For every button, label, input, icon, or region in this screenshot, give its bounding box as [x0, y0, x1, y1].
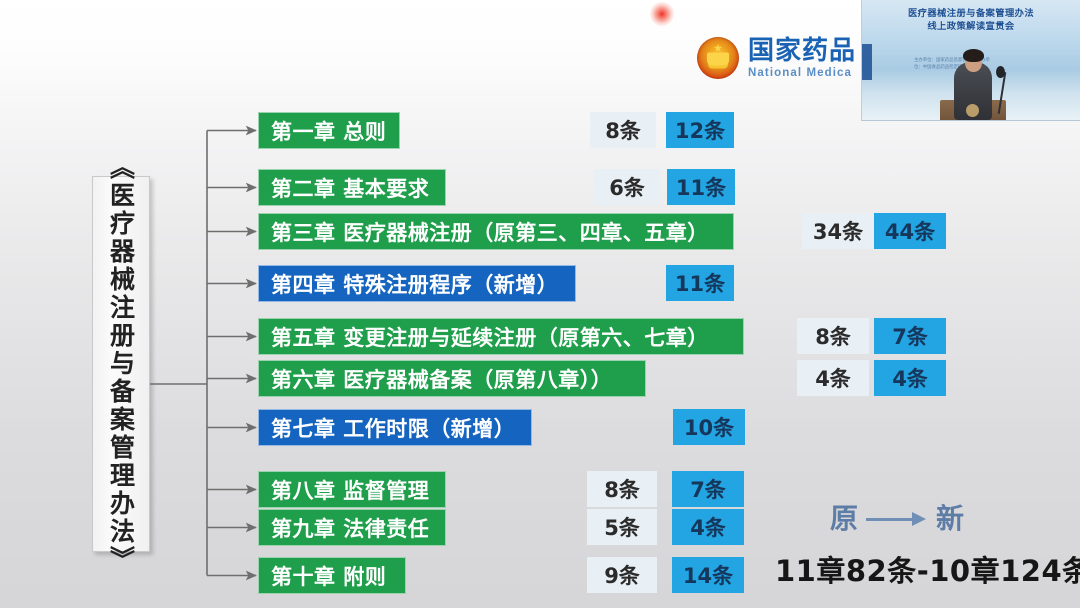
- chapter-label: 第四章 特殊注册程序（新增）: [271, 269, 558, 299]
- chapter-box-7[interactable]: 第七章 工作时限（新增）: [258, 409, 532, 446]
- badge-new-count-2: 11条: [667, 169, 735, 205]
- chapter-box-9[interactable]: 第九章 法律责任: [258, 509, 446, 546]
- chapter-label: 第八章 监督管理: [271, 475, 429, 505]
- chapter-box-10[interactable]: 第十章 附则: [258, 557, 406, 594]
- chapter-row: 第四章 特殊注册程序（新增）11条: [0, 265, 1080, 302]
- microphone-head-shape: [996, 66, 1005, 78]
- chapter-box-1[interactable]: 第一章 总则: [258, 112, 400, 149]
- nmpa-logo: 国家药品 National Medica: [697, 37, 856, 80]
- badge-old-count-6: 4条: [797, 360, 869, 396]
- chapter-row: 第五章 变更注册与延续注册（原第六、七章）8条7条: [0, 318, 1080, 355]
- chapter-label: 第十章 附则: [271, 561, 386, 591]
- badge-old-count-8: 8条: [587, 471, 657, 507]
- chapter-row: 第三章 医疗器械注册（原第三、四章、五章）34条44条: [0, 213, 1080, 250]
- video-banner-line-2: 线上政策解读宣贯会: [862, 20, 1080, 33]
- badge-new-count-7: 10条: [673, 409, 745, 445]
- legend-arrow-icon: [866, 505, 928, 533]
- badge-old-count-2: 6条: [594, 169, 660, 205]
- chapter-box-5[interactable]: 第五章 变更注册与延续注册（原第六、七章）: [258, 318, 744, 355]
- chapter-row: 第二章 基本要求6条11条: [0, 169, 1080, 206]
- badge-old-count-9: 5条: [587, 509, 657, 545]
- national-emblem-icon: [697, 37, 739, 79]
- badge-new-count-10: 14条: [672, 557, 744, 593]
- chapter-label: 第九章 法律责任: [271, 513, 429, 543]
- badge-new-count-1: 12条: [666, 112, 734, 148]
- video-banner-line-1: 医疗器械注册与备案管理办法: [862, 7, 1080, 20]
- chapter-box-6[interactable]: 第六章 医疗器械备案（原第八章））: [258, 360, 646, 397]
- badge-new-count-5: 7条: [874, 318, 946, 354]
- chapter-label: 第七章 工作时限（新增）: [271, 413, 515, 443]
- badge-old-count-5: 8条: [797, 318, 869, 354]
- logo-chinese-name: 国家药品: [748, 37, 856, 63]
- summary-text: 11章82条-10章124条: [775, 548, 1080, 590]
- chapter-row: 第八章 监督管理8条7条: [0, 471, 1080, 508]
- chapter-label: 第五章 变更注册与延续注册（原第六、七章）: [271, 322, 709, 352]
- badge-new-count-8: 7条: [672, 471, 744, 507]
- legend-old-to-new: 原 新: [830, 505, 964, 533]
- logo-english-name: National Medica: [748, 68, 856, 80]
- badge-new-count-3: 44条: [874, 213, 946, 249]
- legend-old-label: 原: [830, 505, 858, 533]
- video-banner-text: 医疗器械注册与备案管理办法 线上政策解读宣贯会: [862, 7, 1080, 33]
- chapter-label: 第一章 总则: [271, 116, 386, 146]
- badge-new-count-9: 4条: [672, 509, 744, 545]
- chapter-label: 第三章 医疗器械注册（原第三、四章、五章）: [271, 217, 709, 247]
- chapter-label: 第二章 基本要求: [271, 173, 429, 203]
- speaker-hair-shape: [963, 49, 984, 62]
- chapter-box-2[interactable]: 第二章 基本要求: [258, 169, 446, 206]
- chapter-row: 第六章 医疗器械备案（原第八章））4条4条: [0, 360, 1080, 397]
- badge-new-count-6: 4条: [874, 360, 946, 396]
- badge-old-count-10: 9条: [587, 557, 657, 593]
- logo-text-group: 国家药品 National Medica: [748, 37, 856, 80]
- chapter-label: 第六章 医疗器械备案（原第八章））: [271, 364, 612, 394]
- chapter-box-3[interactable]: 第三章 医疗器械注册（原第三、四章、五章）: [258, 213, 734, 250]
- badge-old-count-1: 8条: [590, 112, 656, 148]
- badge-old-count-3: 34条: [802, 213, 874, 249]
- chapter-row: 第一章 总则8条12条: [0, 112, 1080, 149]
- chapter-row: 第七章 工作时限（新增）10条: [0, 409, 1080, 446]
- slide-canvas: 国家药品 National Medica 医疗器械注册与备案管理办法 线上政策解…: [0, 0, 1080, 608]
- badge-new-count-4: 11条: [666, 265, 734, 301]
- video-overlay-panel[interactable]: 医疗器械注册与备案管理办法 线上政策解读宣贯会 主办单位：国家药品监督管理局 承…: [861, 0, 1080, 121]
- legend-new-label: 新: [936, 505, 964, 533]
- laser-pointer-dot: [650, 2, 674, 26]
- video-side-chip: [862, 44, 872, 80]
- chapter-box-8[interactable]: 第八章 监督管理: [258, 471, 446, 508]
- chapter-box-4[interactable]: 第四章 特殊注册程序（新增）: [258, 265, 576, 302]
